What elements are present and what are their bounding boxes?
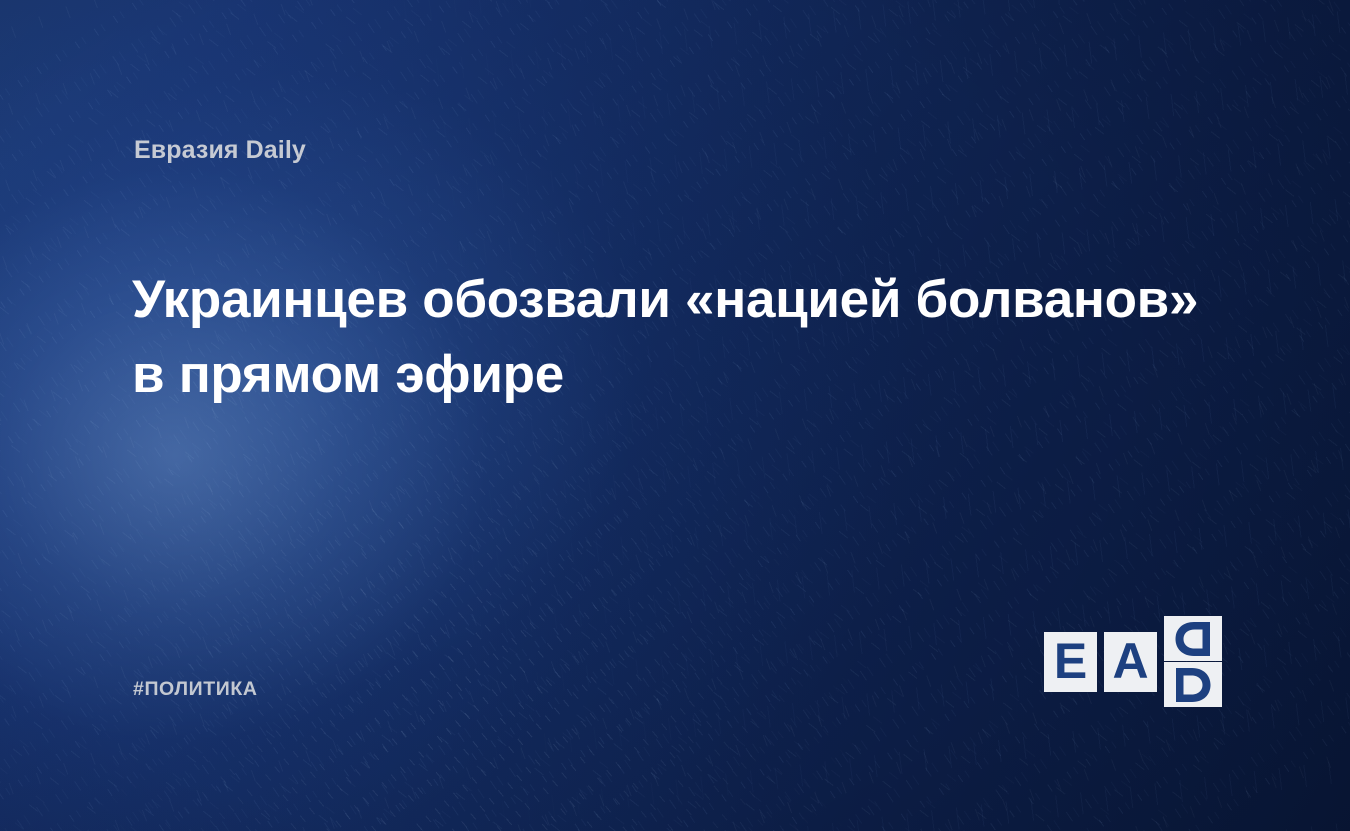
eadaily-logo-mark[interactable]: E A [1044, 616, 1222, 708]
letter-d-icon [1171, 619, 1215, 659]
page-title: Украинцев обозвали «нацией болванов» в п… [132, 262, 1252, 412]
news-card: Евразия Daily Украинцев обозвали «нацией… [0, 0, 1350, 831]
letter-d-icon [1171, 665, 1215, 705]
logo-tile-a: A [1104, 632, 1157, 692]
logo-tile-d-rotated [1164, 616, 1222, 661]
headline-line-2: в прямом эфире [132, 337, 1252, 412]
site-logo-text[interactable]: Евразия Daily [134, 136, 306, 165]
card-content: Евразия Daily Украинцев обозвали «нацией… [0, 0, 1350, 831]
logo-letter-e: E [1054, 636, 1087, 686]
logo-tile-e: E [1044, 632, 1097, 692]
logo-tile-d [1164, 662, 1222, 707]
headline-line-1: Украинцев обозвали «нацией болванов» [132, 262, 1252, 337]
logo-letter-a: A [1112, 636, 1148, 686]
category-hashtag[interactable]: #ПОЛИТИКА [133, 678, 258, 701]
